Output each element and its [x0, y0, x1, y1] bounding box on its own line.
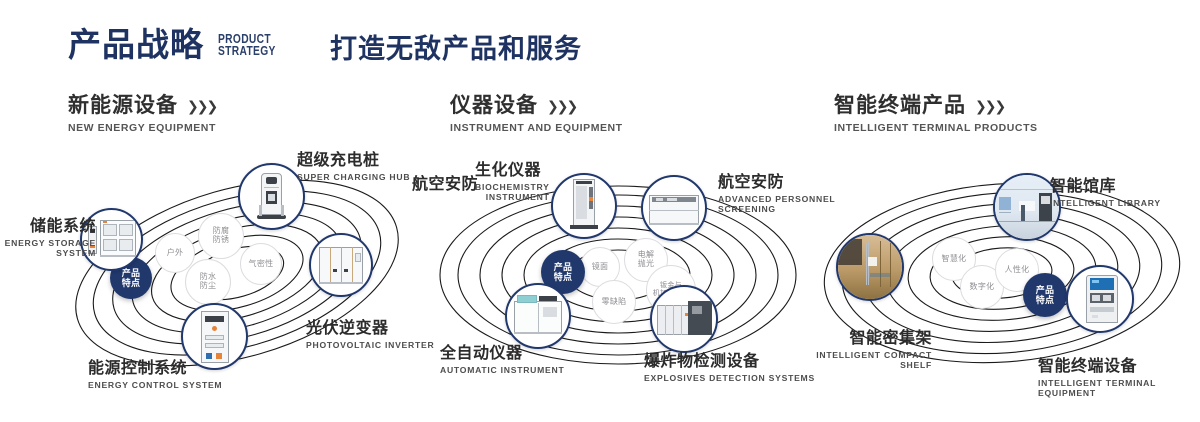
feature-text: 气密性 [249, 260, 274, 269]
section-en: INSTRUMENT AND EQUIPMENT [450, 122, 623, 134]
label-cn: 光伏逆变器 [306, 320, 434, 338]
label-en: SUPER CHARGING HUB [297, 172, 410, 183]
label-cn: 能源控制系统 [88, 360, 222, 378]
compact-shelving-icon [838, 235, 902, 299]
label-aviation-security-left: 航空安防 [412, 176, 478, 194]
section-title-intelligent-terminal: 智能终端产品 ❯❯❯ INTELLIGENT TERMINAL PRODUCTS [834, 95, 1038, 134]
poster-canvas: 产品战略 PRODUCT STRATEGY 打造无敌产品和服务 新能源设备 ❯❯… [0, 0, 1200, 422]
explosives-detector-icon [652, 287, 716, 351]
label-intelligent-library: 智能馆库 INTELLIGENT LIBRARY [1050, 178, 1161, 208]
automatic-analyzer-icon [507, 285, 569, 347]
label-biochemistry-instrument: 生化仪器 BIOCHEMISTRY INSTRUMENT [475, 162, 550, 203]
feature-text: 户外 [167, 249, 184, 258]
node-pv-inverter[interactable] [309, 233, 373, 297]
core-bubble-text: 产品 特点 [554, 262, 573, 282]
node-charging-pile[interactable] [238, 163, 305, 230]
label-charging-pile: 超级充电桩 SUPER CHARGING HUB [297, 152, 410, 182]
section-en: INTELLIGENT TERMINAL PRODUCTS [834, 122, 1038, 134]
feature-text: 防腐 防锈 [213, 227, 230, 245]
chevrons-icon: ❯❯❯ [975, 99, 1004, 114]
feature-bubble: 气密性 [240, 243, 282, 285]
feature-bubble: 防水 防尘 [185, 259, 231, 305]
label-cn: 智能馆库 [1050, 178, 1161, 196]
title-cn: 产品战略 [68, 28, 204, 61]
label-cn: 全自动仪器 [440, 345, 564, 363]
feature-text: 电解 抛光 [638, 251, 655, 269]
label-en: ENERGY CONTROL SYSTEM [88, 380, 222, 391]
node-intelligent-compact-shelf[interactable] [836, 233, 904, 301]
label-en: EXPLOSIVES DETECTION SYSTEMS [644, 373, 815, 384]
section-cn: 新能源设备 [68, 95, 178, 117]
label-en: PHOTOVOLTAIC INVERTER [306, 340, 434, 351]
feature-text: 人性化 [1005, 266, 1030, 275]
chevrons-icon: ❯❯❯ [187, 99, 216, 114]
node-explosives-detection[interactable] [650, 285, 718, 353]
biochemistry-scanner-icon [553, 175, 615, 237]
label-energy-control: 能源控制系统 ENERGY CONTROL SYSTEM [88, 360, 222, 390]
label-cn: 智能密集架 [812, 330, 932, 348]
section-cn: 智能终端产品 [834, 95, 966, 117]
feature-text: 零缺陷 [602, 298, 627, 307]
label-energy-storage: 储能系统 ENERGY STORAGE SYSTEM [0, 218, 96, 259]
label-explosives-detection: 爆炸物检测设备 EXPLOSIVES DETECTION SYSTEMS [644, 353, 815, 383]
self-service-kiosk-icon [1068, 267, 1132, 331]
label-cn: 爆炸物检测设备 [644, 353, 815, 371]
feature-text: 防水 防尘 [200, 273, 217, 291]
label-automatic-instrument: 全自动仪器 AUTOMATIC INSTRUMENT [440, 345, 564, 375]
control-cabinet-icon [183, 305, 246, 368]
page-title: 产品战略 PRODUCT STRATEGY [68, 28, 288, 61]
core-bubble-text: 产品 特点 [122, 268, 141, 288]
core-bubble-text: 产品 特点 [1036, 285, 1055, 305]
label-pv-inverter: 光伏逆变器 PHOTOVOLTAIC INVERTER [306, 320, 434, 350]
pv-inverter-cabinet-icon [311, 235, 371, 295]
label-en: INTELLIGENT TERMINAL EQUIPMENT [1038, 378, 1200, 399]
label-cn: 储能系统 [0, 218, 96, 236]
node-automatic-instrument[interactable] [505, 283, 571, 349]
screening-machine-icon [643, 177, 705, 239]
label-intelligent-compact-shelf: 智能密集架 INTELLIGENT COMPACT SHELF [812, 330, 932, 371]
node-biochemistry-instrument[interactable] [551, 173, 617, 239]
label-cn: 智能终端设备 [1038, 358, 1200, 376]
label-en: AUTOMATIC INSTRUMENT [440, 365, 564, 376]
label-en: INTELLIGENT COMPACT SHELF [812, 350, 932, 371]
page-subtitle: 打造无敌产品和服务 [330, 36, 582, 63]
feature-text: 智慧化 [942, 255, 967, 264]
section-title-instrument: 仪器设备 ❯❯❯ INSTRUMENT AND EQUIPMENT [450, 95, 623, 134]
feature-bubble: 零缺陷 [592, 280, 636, 324]
section-cn: 仪器设备 [450, 95, 538, 117]
label-cn: 航空安防 [412, 176, 478, 194]
feature-text: 镜面 [592, 263, 609, 272]
cluster-new-energy: 户外 防腐 防锈 防水 防尘 气密性 产品 特点 [55, 155, 425, 385]
chevrons-icon: ❯❯❯ [547, 99, 576, 114]
label-en: BIOCHEMISTRY INSTRUMENT [475, 182, 550, 203]
feature-bubble: 防腐 防锈 [198, 213, 244, 259]
feature-text: 数字化 [970, 283, 995, 292]
title-en: PRODUCT STRATEGY [218, 33, 276, 62]
section-title-new-energy: 新能源设备 ❯❯❯ NEW ENERGY EQUIPMENT [68, 95, 216, 134]
label-intelligent-terminal-equipment: 智能终端设备 INTELLIGENT TERMINAL EQUIPMENT [1038, 358, 1200, 399]
section-en: NEW ENERGY EQUIPMENT [68, 122, 216, 134]
label-cn: 生化仪器 [475, 162, 550, 180]
core-bubble-product-features: 产品 特点 [1023, 273, 1067, 317]
node-intelligent-terminal-equipment[interactable] [1066, 265, 1134, 333]
node-advanced-personnel-screening[interactable] [641, 175, 707, 241]
label-cn: 超级充电桩 [297, 152, 410, 170]
label-en: INTELLIGENT LIBRARY [1050, 198, 1161, 209]
charging-pile-icon [240, 165, 303, 228]
label-en: ENERGY STORAGE SYSTEM [0, 238, 96, 259]
